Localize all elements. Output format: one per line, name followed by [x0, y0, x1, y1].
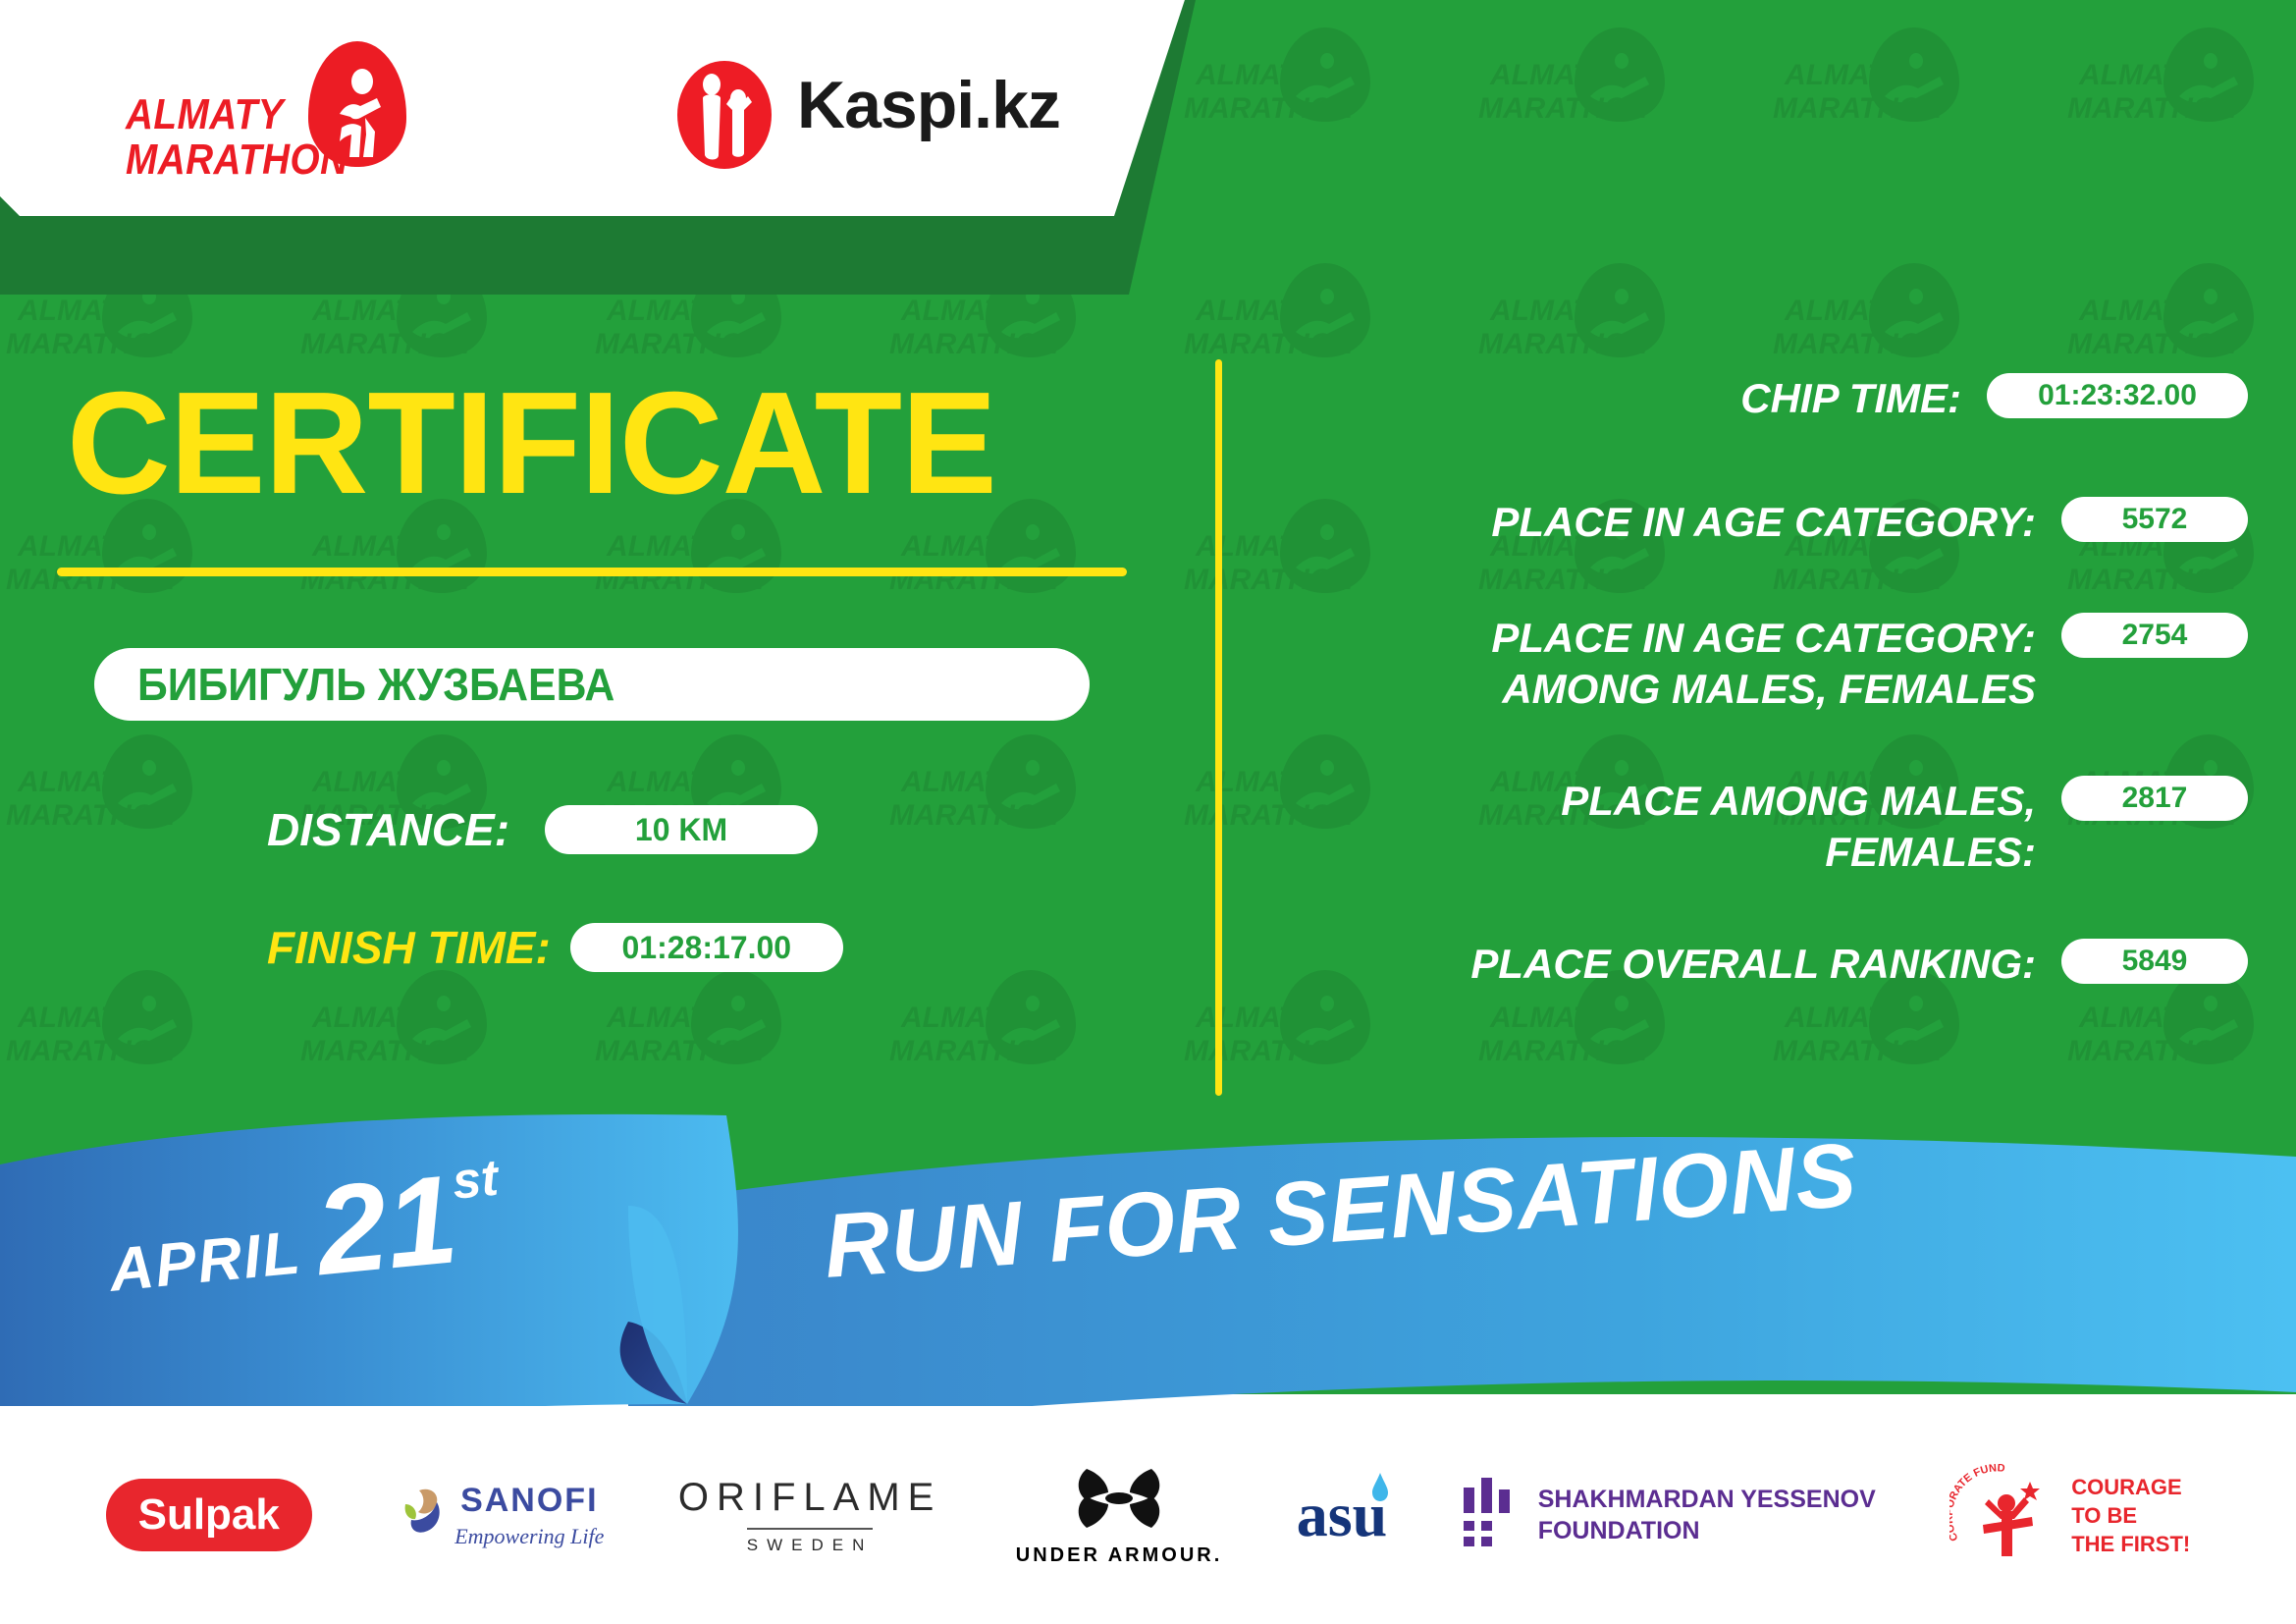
distance-label: DISTANCE:	[267, 803, 509, 856]
stat-row: PLACE IN AGE CATEGORY:5572	[1266, 497, 2248, 548]
stat-label: CHIP TIME:	[1266, 373, 1961, 424]
kaspi-wordmark: Kaspi.kz	[797, 67, 1060, 143]
almaty-marathon-logo: ALMATY MARATHON	[126, 51, 440, 179]
page-title: CERTIFICATE	[67, 371, 996, 516]
sponsor-asu: asu	[1297, 1479, 1388, 1551]
under-armour-icon	[1065, 1463, 1173, 1534]
finish-time-value: 01:28:17.00	[570, 923, 843, 972]
event-day: 21	[310, 1149, 462, 1302]
sanofi-tagline: Empowering Life	[454, 1524, 604, 1549]
sanofi-wordmark: SANOFI	[454, 1482, 604, 1520]
stat-label: PLACE OVERALL RANKING:	[1266, 939, 2036, 990]
courage-line-2: TO BE	[2071, 1501, 2190, 1530]
finish-time-label: FINISH TIME:	[267, 921, 551, 974]
sponsor-yessenov-foundation: SHAKHMARDAN YESSENOV FOUNDATION	[1462, 1476, 1876, 1554]
under-armour-wordmark: UNDER ARMOUR.	[1016, 1544, 1222, 1567]
yessenov-bars-icon	[1462, 1476, 1517, 1554]
sanofi-mark-icon	[386, 1487, 454, 1543]
stat-value: 2817	[2061, 776, 2248, 821]
sponsor-corporate-fund: CORPORATE FUND COURAGE TO BE THE FIRST!	[1949, 1464, 2190, 1566]
sulpak-logo: Sulpak	[106, 1479, 312, 1551]
asu-wordmark-wrap: asu	[1297, 1479, 1388, 1551]
asu-drop-icon	[1371, 1473, 1389, 1502]
certificate-page: ALMATY MARATHON Kaspi.kz CERTIFICATE БИБ…	[0, 0, 2296, 1624]
stat-label: PLACE IN AGE CATEGORY:	[1266, 497, 2036, 548]
stat-value: 01:23:32.00	[1987, 373, 2248, 418]
stat-row: CHIP TIME:01:23:32.00	[1266, 373, 2248, 424]
stat-label: PLACE AMONG MALES,FEMALES:	[1266, 776, 2036, 878]
distance-row: DISTANCE: 10 KM	[267, 803, 818, 856]
oriflame-sub: SWEDEN	[747, 1528, 874, 1555]
stat-value: 5849	[2061, 939, 2248, 984]
courage-line-1: COURAGE	[2071, 1473, 2190, 1501]
stats-list: CHIP TIME:01:23:32.00PLACE IN AGE CATEGO…	[1266, 373, 2248, 1019]
sponsor-under-armour: UNDER ARMOUR.	[1016, 1463, 1222, 1567]
distance-value: 10 KM	[545, 805, 818, 854]
wordmark-line-1: ALMATY	[126, 92, 347, 137]
kaspi-circle-icon	[677, 61, 772, 169]
stat-row: PLACE OVERALL RANKING:5849	[1266, 939, 2248, 990]
yessenov-wordmark: SHAKHMARDAN YESSENOV FOUNDATION	[1538, 1484, 1876, 1546]
sponsor-oriflame: ORIFLAME SWEDEN	[678, 1476, 941, 1555]
stat-value: 2754	[2061, 613, 2248, 658]
vertical-divider	[1215, 359, 1222, 1096]
stat-row: PLACE IN AGE CATEGORY:AMONG MALES, FEMAL…	[1266, 613, 2248, 715]
yessenov-line-1: SHAKHMARDAN YESSENOV	[1538, 1484, 1876, 1515]
participant-name-value: БИБИГУЛЬ ЖУЗБАЕВА	[137, 658, 614, 711]
sponsor-sulpak: Sulpak	[106, 1479, 312, 1551]
yessenov-line-2: FOUNDATION	[1538, 1515, 1876, 1546]
participant-name-field: БИБИГУЛЬ ЖУЗБАЕВА	[94, 648, 1090, 721]
title-underline	[57, 568, 1127, 576]
courage-line-3: THE FIRST!	[2071, 1530, 2190, 1558]
wordmark-line-2: MARATHON	[126, 137, 347, 183]
stat-value: 5572	[2061, 497, 2248, 542]
stat-label: PLACE IN AGE CATEGORY:AMONG MALES, FEMAL…	[1266, 613, 2036, 715]
finish-time-row: FINISH TIME: 01:28:17.00	[267, 921, 843, 974]
sponsor-bar: Sulpak SANOFI Empowering Life ORIFLAME S…	[0, 1406, 2296, 1624]
sponsor-sanofi: SANOFI Empowering Life	[386, 1482, 604, 1549]
courage-fund-wordmark: COURAGE TO BE THE FIRST!	[2071, 1473, 2190, 1558]
almaty-marathon-wordmark: ALMATY MARATHON	[126, 92, 347, 183]
event-day-ordinal: st	[450, 1150, 501, 1211]
courage-fund-icon: CORPORATE FUND	[1949, 1464, 2057, 1566]
oriflame-wordmark: ORIFLAME	[678, 1476, 941, 1520]
event-month: APRIL	[107, 1218, 305, 1304]
stat-row: PLACE AMONG MALES,FEMALES:2817	[1266, 776, 2248, 878]
kaspi-people-icon	[677, 61, 772, 169]
